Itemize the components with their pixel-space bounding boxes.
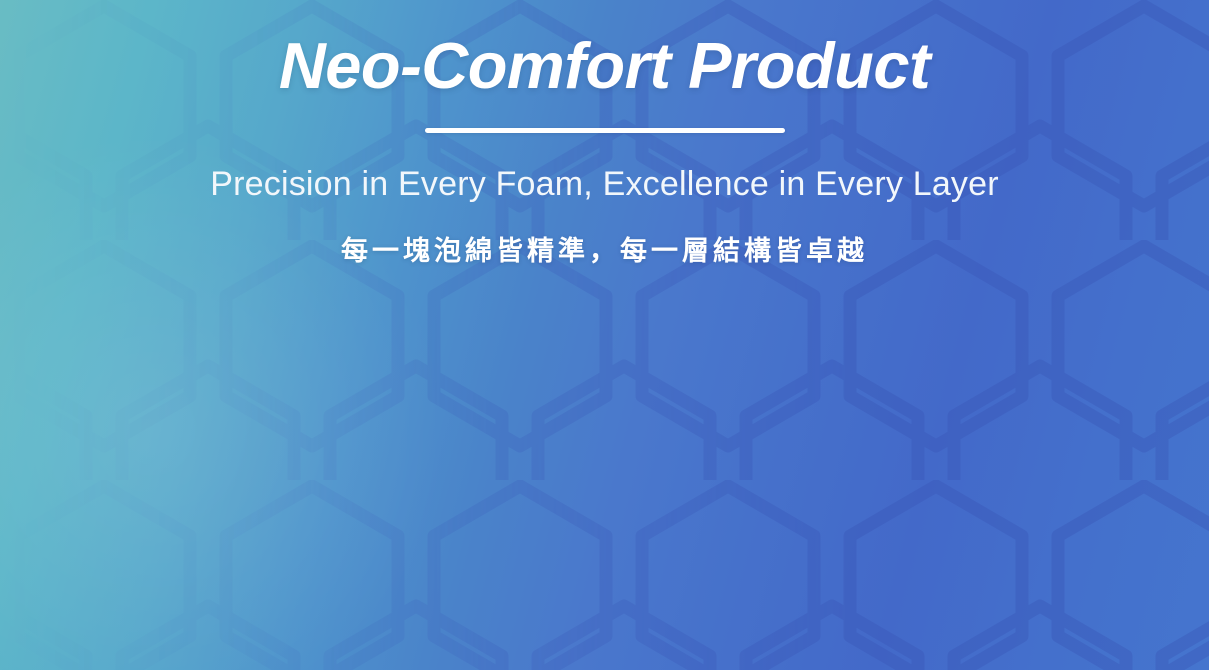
product-image-gallery bbox=[0, 392, 1209, 632]
hero-subtitle: Precision in Every Foam, Excellence in E… bbox=[0, 133, 1209, 205]
hero-banner: Neo-Comfort Product Precision in Every F… bbox=[0, 0, 1209, 670]
hero-tagline-zh: 每一塊泡綿皆精準，每一層結構皆卓越 bbox=[0, 205, 1209, 268]
page-title: Neo-Comfort Product bbox=[0, 0, 1209, 108]
hero-text-block: Neo-Comfort Product Precision in Every F… bbox=[0, 0, 1209, 268]
